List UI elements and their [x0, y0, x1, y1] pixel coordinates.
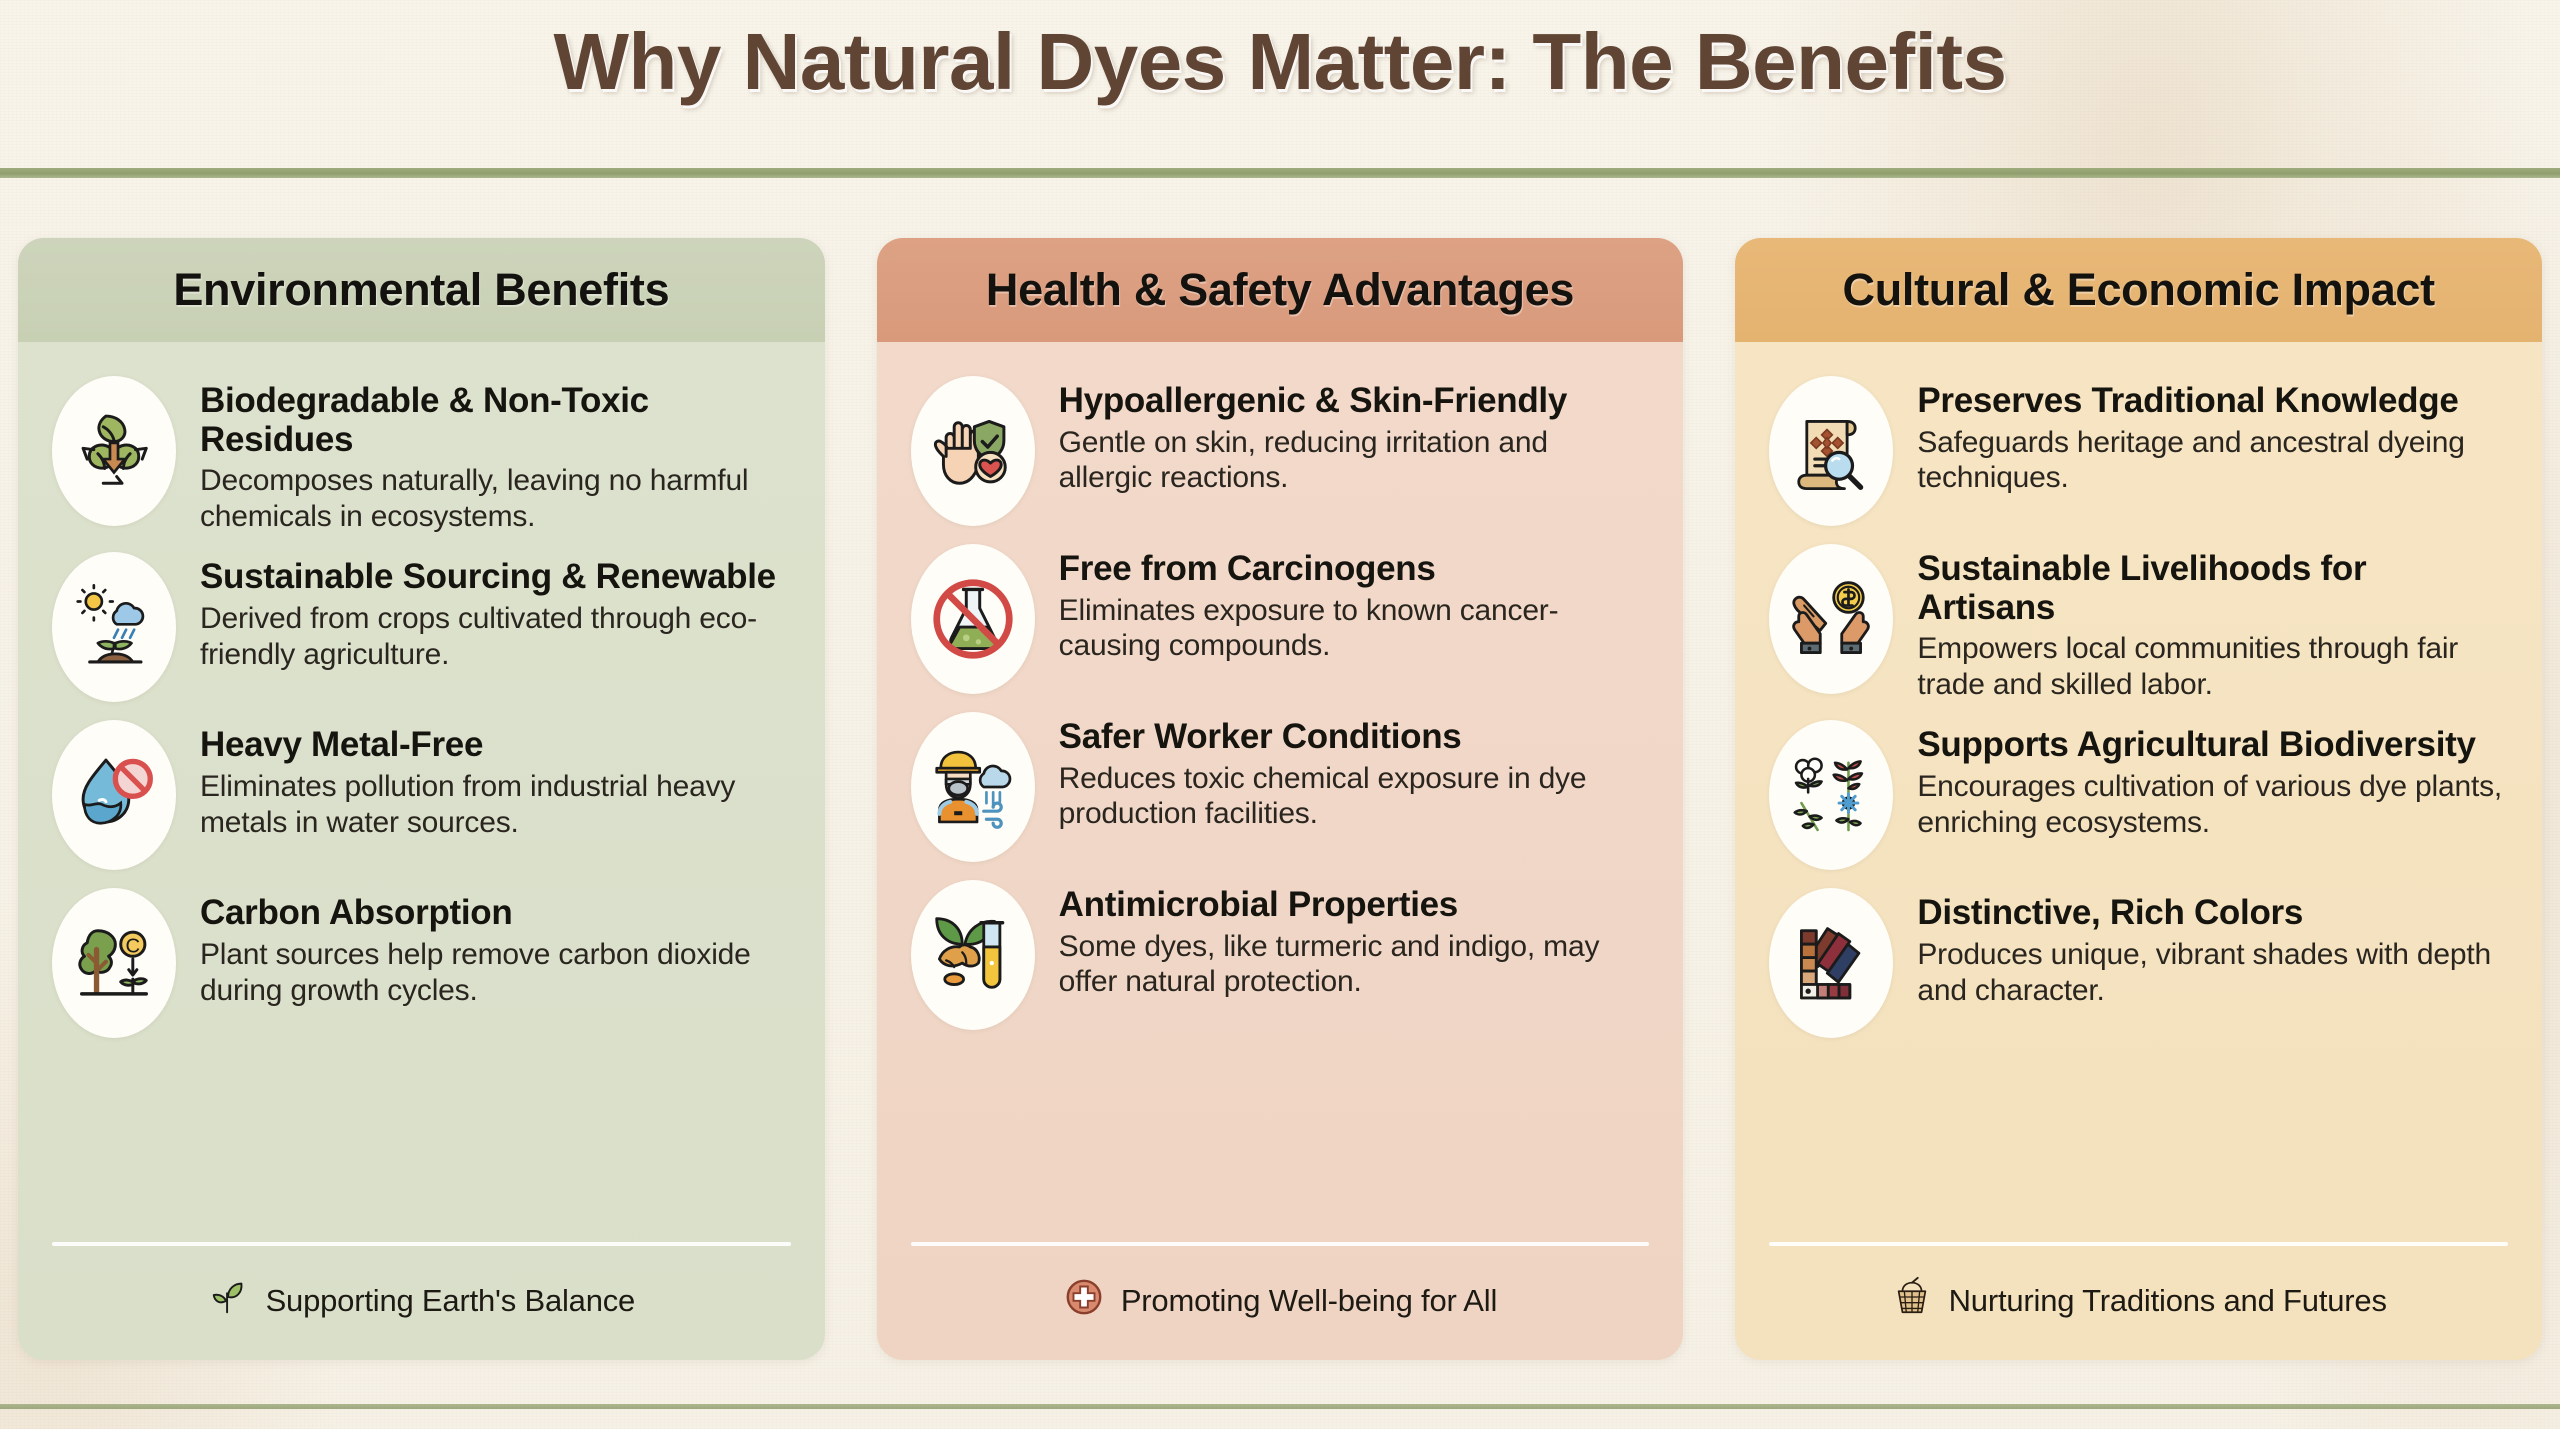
list-item[interactable]: Free from Carcinogens Eliminates exposur… [911, 544, 1650, 694]
scroll-magnifier-icon [1769, 376, 1893, 526]
hands-coin-icon [1769, 544, 1893, 694]
list-item[interactable]: Hypoallergenic & Skin-Friendly Gentle on… [911, 376, 1650, 526]
columns-container: Environmental Benefits [18, 238, 2542, 1360]
column-environmental-benefits: Environmental Benefits [18, 238, 825, 1360]
item-description: Eliminates exposure to known cancer-caus… [1059, 593, 1650, 664]
item-title: Carbon Absorption [200, 894, 791, 933]
list-item[interactable]: Safer Worker Conditions Reduces toxic ch… [911, 712, 1650, 862]
item-description: Reduces toxic chemical exposure in dye p… [1059, 761, 1650, 832]
list-item[interactable]: Antimicrobial Properties Some dyes, like… [911, 880, 1650, 1030]
item-text-block: Antimicrobial Properties Some dyes, like… [1059, 880, 1650, 1000]
footer-divider [52, 1242, 791, 1246]
infographic-canvas: Why Natural Dyes Matter: The Benefits En… [0, 0, 2560, 1429]
leaf-sprout-icon [208, 1276, 250, 1326]
footer-line: Promoting Well-being for All [911, 1276, 1650, 1326]
column-health-safety-advantages: Health & Safety Advantages [877, 238, 1684, 1360]
item-description: Encourages cultivation of various dye pl… [1917, 769, 2508, 840]
footer-text: Promoting Well-being for All [1121, 1283, 1497, 1319]
item-title: Safer Worker Conditions [1059, 718, 1650, 757]
list-item[interactable]: Biodegradable & Non-Toxic Residues Decom… [52, 376, 791, 534]
item-text-block: Distinctive, Rich Colors Produces unique… [1917, 888, 2508, 1008]
turmeric-test-tube-icon [911, 880, 1035, 1030]
item-description: Safeguards heritage and ancestral dyeing… [1917, 425, 2508, 496]
item-title: Antimicrobial Properties [1059, 886, 1650, 925]
item-description: Empowers local communities through fair … [1917, 631, 2508, 702]
item-description: Decomposes naturally, leaving no harmful… [200, 463, 791, 534]
item-title: Preserves Traditional Knowledge [1917, 382, 2508, 421]
woven-basket-icon [1891, 1276, 1933, 1326]
item-description: Derived from crops cultivated through ec… [200, 601, 791, 672]
footer-line: Supporting Earth's Balance [52, 1276, 791, 1326]
item-text-block: Carbon Absorption Plant sources help rem… [200, 888, 791, 1008]
no-chemical-flask-icon [911, 544, 1035, 694]
footer-text: Nurturing Traditions and Futures [1949, 1283, 2387, 1319]
column-footer-cultural-economic: Nurturing Traditions and Futures [1735, 1242, 2542, 1360]
item-text-block: Preserves Traditional Knowledge Safeguar… [1917, 376, 2508, 496]
item-description: Gentle on skin, reducing irritation and … [1059, 425, 1650, 496]
title-area: Why Natural Dyes Matter: The Benefits [0, 16, 2560, 108]
item-text-block: Sustainable Livelihoods for Artisans Emp… [1917, 544, 2508, 702]
column-header-health-safety: Health & Safety Advantages [877, 238, 1684, 342]
color-swatch-fan-icon [1769, 888, 1893, 1038]
item-title: Distinctive, Rich Colors [1917, 894, 2508, 933]
item-title: Hypoallergenic & Skin-Friendly [1059, 382, 1650, 421]
list-item[interactable]: Sustainable Livelihoods for Artisans Emp… [1769, 544, 2508, 702]
list-item[interactable]: Heavy Metal-Free Eliminates pollution fr… [52, 720, 791, 870]
column-cultural-economic-impact: Cultural & Economic Impact [1735, 238, 2542, 1360]
hand-shield-heart-icon [911, 376, 1035, 526]
item-text-block: Sustainable Sourcing & Renewable Derived… [200, 552, 791, 672]
item-text-block: Safer Worker Conditions Reduces toxic ch… [1059, 712, 1650, 832]
list-item[interactable]: Supports Agricultural Biodiversity Encou… [1769, 720, 2508, 870]
item-text-block: Free from Carcinogens Eliminates exposur… [1059, 544, 1650, 664]
svg-text:C: C [126, 936, 141, 958]
item-text-block: Supports Agricultural Biodiversity Encou… [1917, 720, 2508, 840]
page-title: Why Natural Dyes Matter: The Benefits [0, 16, 2560, 108]
item-title: Free from Carcinogens [1059, 550, 1650, 589]
list-item[interactable]: Sustainable Sourcing & Renewable Derived… [52, 552, 791, 702]
item-title: Biodegradable & Non-Toxic Residues [200, 382, 791, 459]
list-item[interactable]: Distinctive, Rich Colors Produces unique… [1769, 888, 2508, 1038]
footer-line: Nurturing Traditions and Futures [1769, 1276, 2508, 1326]
column-footer-health-safety: Promoting Well-being for All [877, 1242, 1684, 1360]
cotton-plants-icon [1769, 720, 1893, 870]
column-header-environmental: Environmental Benefits [18, 238, 825, 342]
item-text-block: Hypoallergenic & Skin-Friendly Gentle on… [1059, 376, 1650, 496]
footer-divider [1769, 1242, 2508, 1246]
list-item[interactable]: Preserves Traditional Knowledge Safeguar… [1769, 376, 2508, 526]
item-description: Some dyes, like turmeric and indigo, may… [1059, 929, 1650, 1000]
footer-text: Supporting Earth's Balance [266, 1283, 636, 1319]
item-title: Supports Agricultural Biodiversity [1917, 726, 2508, 765]
tree-carbon-icon: C [52, 888, 176, 1038]
item-text-block: Heavy Metal-Free Eliminates pollution fr… [200, 720, 791, 840]
recycle-leaves-icon [52, 376, 176, 526]
title-divider-rule [0, 168, 2560, 178]
footer-divider [911, 1242, 1650, 1246]
column-body-health-safety: Hypoallergenic & Skin-Friendly Gentle on… [877, 342, 1684, 1242]
bottom-divider-rule [0, 1404, 2560, 1409]
benefit-list-cultural-economic: Preserves Traditional Knowledge Safeguar… [1769, 376, 2508, 1038]
column-footer-environmental: Supporting Earth's Balance [18, 1242, 825, 1360]
item-description: Produces unique, vibrant shades with dep… [1917, 937, 2508, 1008]
medical-cross-badge-icon [1063, 1276, 1105, 1326]
sun-rain-sprout-icon [52, 552, 176, 702]
list-item[interactable]: C Carbon Absor [52, 888, 791, 1038]
item-description: Eliminates pollution from industrial hea… [200, 769, 791, 840]
column-body-cultural-economic: Preserves Traditional Knowledge Safeguar… [1735, 342, 2542, 1242]
item-title: Sustainable Livelihoods for Artisans [1917, 550, 2508, 627]
column-body-environmental: Biodegradable & Non-Toxic Residues Decom… [18, 342, 825, 1242]
item-title: Sustainable Sourcing & Renewable [200, 558, 791, 597]
water-drop-no-entry-icon [52, 720, 176, 870]
column-header-cultural-economic: Cultural & Economic Impact [1735, 238, 2542, 342]
item-title: Heavy Metal-Free [200, 726, 791, 765]
worker-respirator-icon [911, 712, 1035, 862]
item-description: Plant sources help remove carbon dioxide… [200, 937, 791, 1008]
item-text-block: Biodegradable & Non-Toxic Residues Decom… [200, 376, 791, 534]
benefit-list-health-safety: Hypoallergenic & Skin-Friendly Gentle on… [911, 376, 1650, 1030]
benefit-list-environmental: Biodegradable & Non-Toxic Residues Decom… [52, 376, 791, 1038]
